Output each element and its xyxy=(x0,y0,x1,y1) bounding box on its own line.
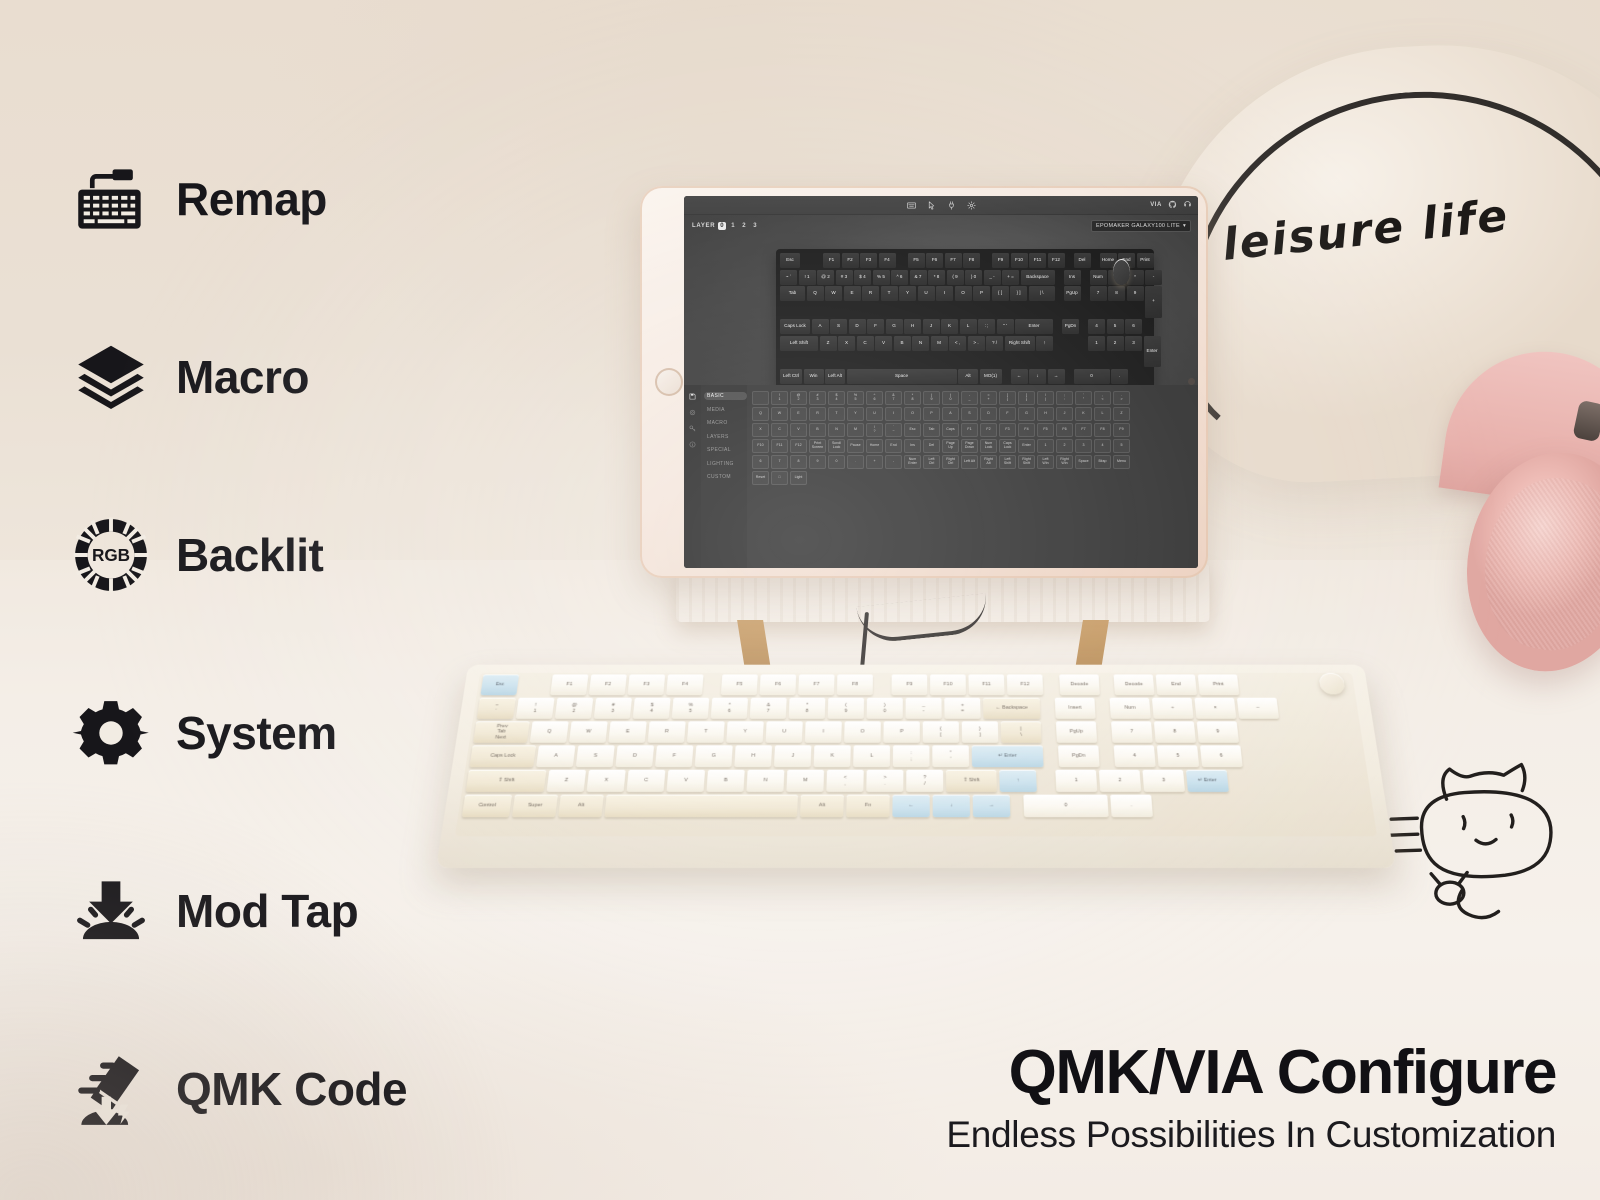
keyboard-key[interactable]: ÷ xyxy=(1152,698,1194,719)
via-tab-custom[interactable]: CUSTOM xyxy=(704,473,747,481)
via-keycode-key[interactable]: PrintScreen xyxy=(809,439,826,453)
via-keycode-key[interactable]: ,< xyxy=(1094,391,1111,405)
via-board-key[interactable]: < , xyxy=(949,336,966,351)
keyboard-key[interactable]: PgDn xyxy=(1058,745,1100,767)
via-board-key[interactable]: # 3 xyxy=(836,270,853,285)
via-board-key[interactable]: _ - xyxy=(984,270,1001,285)
via-keycode-key[interactable]: [{ xyxy=(999,391,1016,405)
via-keycode-key[interactable]: /? xyxy=(866,423,883,437)
via-board-key[interactable]: + xyxy=(1145,286,1162,318)
keyboard-key[interactable]: C xyxy=(626,770,665,792)
via-board-key[interactable]: P xyxy=(973,286,990,301)
via-board-key[interactable]: % 5 xyxy=(873,270,890,285)
via-board-key[interactable]: 7 xyxy=(1090,286,1107,301)
via-board-key[interactable]: - xyxy=(1145,270,1162,285)
keyboard-key[interactable]: → xyxy=(973,795,1011,818)
via-board-key[interactable]: 5 xyxy=(1107,319,1124,334)
via-board-key[interactable]: ~ ` xyxy=(780,270,797,285)
keyboard-key[interactable]: += xyxy=(944,698,980,719)
via-keycode-key[interactable]: L xyxy=(1094,407,1111,421)
keyboard-key[interactable]: #3 xyxy=(594,698,632,719)
keyboard-key[interactable]: F4 xyxy=(666,675,703,696)
via-keycode-key[interactable]: RightCtrl xyxy=(942,455,959,469)
via-keycode-key[interactable]: F8 xyxy=(1094,423,1111,437)
layer-selector[interactable]: LAYER 0 1 2 3 xyxy=(692,222,759,230)
keyboard-key[interactable]: F8 xyxy=(837,675,873,696)
via-keycode-key[interactable]: #3 xyxy=(809,391,826,405)
via-keycode-key[interactable]: - xyxy=(885,455,902,469)
key-icon[interactable] xyxy=(689,425,696,432)
via-keycode-key[interactable]: End xyxy=(885,439,902,453)
via-board-key[interactable]: ) 0 xyxy=(965,270,982,285)
keyboard-key[interactable]: _- xyxy=(906,698,942,719)
via-keycode-key[interactable]: F5 xyxy=(1037,423,1054,437)
via-board-key[interactable]: Left Shift xyxy=(780,336,818,351)
keyboard-key[interactable]: F3 xyxy=(627,675,665,696)
keyboard-key[interactable]: F7 xyxy=(798,675,834,696)
keyboard-key[interactable]: End xyxy=(1156,675,1197,696)
via-keycode-key[interactable]: G xyxy=(1018,407,1035,421)
keyboard-key[interactable]: F2 xyxy=(589,675,627,696)
keyboard-key[interactable]: Super xyxy=(512,795,558,818)
via-keycode-key[interactable]: F3 xyxy=(999,423,1016,437)
via-board-key[interactable]: F2 xyxy=(842,253,859,268)
via-keycode-key[interactable]: Caps xyxy=(942,423,959,437)
keyboard-key[interactable]: "' xyxy=(932,745,969,767)
via-keycode-key[interactable]: S xyxy=(961,407,978,421)
via-keycode-key[interactable]: I xyxy=(885,407,902,421)
keyboard-icon[interactable] xyxy=(907,201,916,210)
gear-icon[interactable] xyxy=(967,201,976,210)
via-keycode-key[interactable]: F xyxy=(999,407,1016,421)
via-board-key[interactable]: F9 xyxy=(992,253,1009,268)
keyboard-key[interactable]: M xyxy=(786,770,824,792)
via-board-key[interactable]: ← xyxy=(1011,369,1028,384)
via-keycode-key[interactable]: F6 xyxy=(1056,423,1073,437)
keyboard-key[interactable]: F xyxy=(655,745,693,767)
via-board-key[interactable]: Win xyxy=(804,369,824,384)
via-keycode-key[interactable]: 7 xyxy=(771,455,788,469)
keyboard-key[interactable]: |\ xyxy=(1001,721,1042,742)
via-board-key[interactable]: G xyxy=(886,319,903,334)
keyboard-key[interactable]: Print xyxy=(1198,675,1240,696)
via-keycode-key[interactable]: H xyxy=(1037,407,1054,421)
via-keycode-panel[interactable]: BASICMEDIAMACROLAYERSSPECIALLIGHTINGCUST… xyxy=(684,385,1198,568)
via-keycode-key[interactable]: LeftShift xyxy=(999,455,1016,469)
keyboard-key[interactable]: F9 xyxy=(891,675,927,696)
via-keycode-key[interactable]: J xyxy=(1056,407,1073,421)
via-tab-lighting[interactable]: LIGHTING xyxy=(704,460,747,468)
via-board-key[interactable]: F1 xyxy=(823,253,840,268)
via-keycode-key[interactable]: X xyxy=(752,423,769,437)
via-keycode-key[interactable]: .> xyxy=(1113,391,1130,405)
via-board-key[interactable] xyxy=(1113,259,1130,285)
layer-chip-2[interactable]: 2 xyxy=(740,222,748,230)
via-keycode-key[interactable]: F11 xyxy=(771,439,788,453)
keyboard-key[interactable]: E xyxy=(608,721,646,742)
keyboard-key[interactable]: H xyxy=(734,745,772,767)
via-keycode-key[interactable]: 4 xyxy=(1094,439,1111,453)
keyboard-key[interactable]: F6 xyxy=(759,675,796,696)
keyboard-key[interactable]: P xyxy=(883,721,919,742)
via-board-key[interactable]: Esc xyxy=(780,253,800,268)
keyboard-key[interactable]: 1 xyxy=(1055,770,1097,792)
keyboard-key[interactable]: 6 xyxy=(1200,745,1243,767)
keyboard-key[interactable]: ?/ xyxy=(906,770,943,792)
via-board-key[interactable]: Q xyxy=(807,286,824,301)
keyboard-key[interactable]: N xyxy=(746,770,784,792)
via-board-key[interactable]: E xyxy=(844,286,861,301)
via-board-key[interactable]: F3 xyxy=(860,253,877,268)
keyboard-key[interactable]: %5 xyxy=(672,698,710,719)
via-board-key[interactable]: V xyxy=(875,336,892,351)
via-keycode-key[interactable]: -_ xyxy=(961,391,978,405)
via-keycode-key[interactable]: ScrollLock xyxy=(828,439,845,453)
keyboard-key[interactable]: . xyxy=(1110,795,1153,818)
keyboard-key[interactable]: Insert xyxy=(1055,698,1096,719)
via-keycode-key[interactable]: M xyxy=(847,423,864,437)
via-keycode-key[interactable]: %5 xyxy=(847,391,864,405)
keyboard-key[interactable]: ⇧ Shift xyxy=(946,770,997,792)
via-keycode-key[interactable]: F2 xyxy=(980,423,997,437)
keyboard-key[interactable]: Decode xyxy=(1059,675,1100,696)
via-keycode-key[interactable]: ;: xyxy=(1056,391,1073,405)
keyboard-key[interactable]: 9 xyxy=(1197,721,1239,742)
via-board-key[interactable]: W xyxy=(825,286,842,301)
via-keycode-key[interactable]: F12 xyxy=(790,439,807,453)
via-board-key[interactable]: A xyxy=(812,319,829,334)
keyboard-key[interactable]: &7 xyxy=(750,698,787,719)
via-board-key[interactable]: Right Shift xyxy=(1005,336,1035,351)
keyboard-key[interactable]: Q xyxy=(530,721,569,742)
keyboard-key[interactable]: @2 xyxy=(555,698,594,719)
via-board-key[interactable]: 4 xyxy=(1088,319,1105,334)
via-keycode-key[interactable]: C xyxy=(771,423,788,437)
via-board-key[interactable]: → xyxy=(1048,369,1065,384)
keyboard-key[interactable]: 0 xyxy=(1023,795,1108,818)
via-board-key[interactable]: F11 xyxy=(1029,253,1046,268)
keyboard-key[interactable]: 5 xyxy=(1157,745,1199,767)
via-board-key[interactable]: Caps Lock xyxy=(780,319,810,334)
via-board-key[interactable]: | \ xyxy=(1029,286,1055,301)
save-icon[interactable] xyxy=(689,393,696,400)
via-keycode-key[interactable]: E xyxy=(790,407,807,421)
via-board-key[interactable]: + = xyxy=(1002,270,1019,285)
via-keymap-area[interactable]: LAYER 0 1 2 3 EPOMAKER GALAXY100 LITE ▾ … xyxy=(684,215,1198,385)
via-keycode-key[interactable]: Y xyxy=(847,407,864,421)
via-toolbar[interactable]: VIA xyxy=(684,196,1198,215)
via-keycode-key[interactable]: Home xyxy=(866,439,883,453)
via-board-key[interactable]: Tab xyxy=(780,286,805,301)
via-board-key[interactable]: * 8 xyxy=(928,270,945,285)
via-keycode-key[interactable]: RightAlt xyxy=(980,455,997,469)
via-board-key[interactable]: D xyxy=(849,319,866,334)
via-keycode-key[interactable]: □ xyxy=(771,471,788,485)
via-category-tabs[interactable]: BASICMEDIAMACROLAYERSSPECIALLIGHTINGCUST… xyxy=(701,385,747,568)
via-keycode-key[interactable]: 2 xyxy=(1056,439,1073,453)
keyboard-key[interactable]: F5 xyxy=(721,675,758,696)
via-keycode-key[interactable]: O xyxy=(904,407,921,421)
via-keycode-key[interactable]: A xyxy=(942,407,959,421)
keyboard-key[interactable]: Z xyxy=(547,770,587,792)
keyboard-key[interactable]: J xyxy=(774,745,812,767)
plug-icon[interactable] xyxy=(947,201,956,210)
keyboard-key[interactable]: L xyxy=(853,745,890,767)
via-keycode-key[interactable]: Z xyxy=(1113,407,1130,421)
via-board-key[interactable]: : ; xyxy=(978,319,995,334)
via-keycode-key[interactable]: )0 xyxy=(942,391,959,405)
keyboard-key[interactable]: O xyxy=(844,721,881,742)
via-board-key[interactable]: Ins xyxy=(1064,270,1081,285)
via-keycode-key[interactable]: W xyxy=(771,407,788,421)
keyboard-key-grid[interactable]: EscF1F2F3F4F5F6F7F8F9F10F11F12DecodeDeco… xyxy=(462,675,1370,818)
via-board-key[interactable]: S xyxy=(830,319,847,334)
tablet-home-button[interactable] xyxy=(655,368,683,396)
via-keyboard-render[interactable]: EscF1F2F3F4F5F6F7F8F9F10F11F12DelHomeEnd… xyxy=(776,249,1154,389)
via-keycode-key[interactable]: U xyxy=(866,407,883,421)
via-keycode-key[interactable]: RightWin xyxy=(1056,455,1073,469)
via-board-key[interactable]: H xyxy=(904,319,921,334)
keyboard-key[interactable]: A xyxy=(536,745,575,767)
via-board-key[interactable]: Backspace xyxy=(1021,270,1055,285)
via-board-key[interactable]: J xyxy=(923,319,940,334)
keyboard-key[interactable]: × xyxy=(1194,698,1236,719)
keyboard-key[interactable]: 2 xyxy=(1099,770,1141,792)
via-keycode-key[interactable]: V xyxy=(790,423,807,437)
keyboard-key[interactable]: Y xyxy=(726,721,764,742)
keyboard-key[interactable]: $4 xyxy=(633,698,671,719)
via-board-key[interactable]: F10 xyxy=(1011,253,1028,268)
layer-chip-0[interactable]: 0 xyxy=(718,222,726,230)
via-keycode-key[interactable]: 5 xyxy=(1113,439,1130,453)
keyboard-key[interactable]: W xyxy=(569,721,608,742)
via-keycode-key[interactable]: R xyxy=(809,407,826,421)
via-board-key[interactable]: C xyxy=(857,336,874,351)
via-keycode-key[interactable]: LeftCtrl xyxy=(923,455,940,469)
via-board-key[interactable]: ! 1 xyxy=(799,270,816,285)
via-keycode-key[interactable]: F10 xyxy=(752,439,769,453)
via-keycode-key[interactable]: T xyxy=(828,407,845,421)
via-board-key[interactable]: T xyxy=(881,286,898,301)
via-board-key[interactable]: ^ 6 xyxy=(891,270,908,285)
via-board-key[interactable]: . xyxy=(1111,369,1128,384)
keyboard-key[interactable]: :; xyxy=(893,745,930,767)
keyboard-key[interactable]: 8 xyxy=(1154,721,1196,742)
via-board-key[interactable]: 8 xyxy=(1108,286,1125,301)
layer-chip-3[interactable]: 3 xyxy=(751,222,759,230)
via-keycode-key[interactable] xyxy=(752,391,769,405)
via-keycode-key[interactable]: Left Alt xyxy=(961,455,978,469)
via-keycode-key[interactable]: '" xyxy=(1075,391,1092,405)
via-board-key[interactable]: Left Alt xyxy=(825,369,845,384)
via-keycode-key[interactable]: LeftWin xyxy=(1037,455,1054,469)
via-keycode-key[interactable]: =+ xyxy=(980,391,997,405)
via-board-key[interactable]: O xyxy=(955,286,972,301)
via-keycode-key[interactable]: F4 xyxy=(1018,423,1035,437)
via-keycode-key[interactable]: `~ xyxy=(885,423,902,437)
keyboard-key[interactable]: >. xyxy=(866,770,903,792)
via-keycode-key[interactable]: Del xyxy=(923,439,940,453)
via-keycode-grid[interactable]: !1@2#3$4%5^6&7*8(9)0-_=+[{]}\|;:'",<.>QW… xyxy=(747,385,1198,568)
via-board-key[interactable]: " ' xyxy=(997,319,1014,334)
via-keycode-key[interactable]: ^6 xyxy=(866,391,883,405)
via-side-rail[interactable] xyxy=(684,385,701,568)
keyboard-key[interactable]: 4 xyxy=(1114,745,1156,767)
via-keycode-key[interactable]: Pause xyxy=(847,439,864,453)
via-board-key[interactable]: PgUp xyxy=(1064,286,1081,301)
keyboard-key[interactable]: ↑ xyxy=(999,770,1037,792)
via-board-key[interactable]: > . xyxy=(968,336,985,351)
keyboard-key[interactable] xyxy=(604,795,798,818)
via-keycode-key[interactable]: F7 xyxy=(1075,423,1092,437)
via-board-key[interactable]: 2 xyxy=(1107,336,1124,351)
via-tab-macro[interactable]: MACRO xyxy=(704,419,747,427)
keyboard-key[interactable]: Decode xyxy=(1113,675,1154,696)
keyboard-key[interactable]: 7 xyxy=(1111,721,1153,742)
via-board-key[interactable]: @ 2 xyxy=(817,270,834,285)
via-keycode-key[interactable]: Reset xyxy=(752,471,769,485)
via-board-key[interactable]: 6 xyxy=(1125,319,1142,334)
via-board-key[interactable]: Alt xyxy=(958,369,978,384)
via-keycode-key[interactable]: Esc xyxy=(904,423,921,437)
via-tab-layers[interactable]: LAYERS xyxy=(704,433,747,441)
via-keycode-key[interactable]: !1 xyxy=(771,391,788,405)
keyboard-key[interactable]: Alt xyxy=(558,795,604,818)
via-keycode-key[interactable]: *8 xyxy=(904,391,921,405)
via-keycode-key[interactable]: K xyxy=(1075,407,1092,421)
physical-keyboard[interactable]: EscF1F2F3F4F5F6F7F8F9F10F11F12DecodeDeco… xyxy=(436,665,1396,868)
via-board-key[interactable]: 1 xyxy=(1088,336,1105,351)
via-keycode-key[interactable]: 6 xyxy=(752,455,769,469)
via-keycode-key[interactable]: $4 xyxy=(828,391,845,405)
via-keycode-key[interactable]: CapsLock xyxy=(999,439,1016,453)
via-board-key[interactable]: ↓ xyxy=(1029,369,1046,384)
via-toolbar-right[interactable]: VIA xyxy=(1150,200,1192,209)
via-board-key[interactable]: { [ xyxy=(992,286,1009,301)
via-keycode-key[interactable]: 0 xyxy=(828,455,845,469)
via-board-key[interactable]: 9 xyxy=(1127,286,1144,301)
via-keycode-key[interactable]: 1 xyxy=(1037,439,1054,453)
via-board-key[interactable]: F5 xyxy=(908,253,925,268)
github-icon[interactable] xyxy=(1168,200,1177,209)
headset-icon[interactable] xyxy=(1183,200,1192,209)
keyboard-key[interactable]: ↵ Enter xyxy=(972,745,1044,767)
via-keycode-key[interactable]: Light xyxy=(790,471,807,485)
keyboard-key[interactable]: K xyxy=(814,745,851,767)
via-app-screen[interactable]: VIA LAYER 0 1 2 3 EPOMAKER GALAXY100 L xyxy=(684,196,1198,568)
via-board-key[interactable]: Num xyxy=(1090,270,1107,285)
via-board-key[interactable]: F8 xyxy=(963,253,980,268)
via-board-key[interactable]: 3 xyxy=(1125,336,1142,351)
settings-icon[interactable] xyxy=(689,409,696,416)
via-board-key[interactable]: Enter xyxy=(1015,319,1053,334)
via-keycode-key[interactable]: PageDown xyxy=(961,439,978,453)
via-keycode-key[interactable]: Ins xyxy=(904,439,921,453)
via-tab-media[interactable]: MEDIA xyxy=(704,406,747,414)
via-board-key[interactable]: R xyxy=(862,286,879,301)
via-keycode-key[interactable]: Space xyxy=(1075,455,1092,469)
keyboard-key[interactable]: Fn xyxy=(846,795,889,818)
via-keycode-key[interactable]: D xyxy=(980,407,997,421)
via-board-key[interactable]: F12 xyxy=(1048,253,1065,268)
keyboard-key[interactable]: – xyxy=(1237,698,1279,719)
via-board-key[interactable]: $ 4 xyxy=(854,270,871,285)
keyboard-key[interactable]: ← Backspace xyxy=(983,698,1041,719)
keyboard-key[interactable]: ^6 xyxy=(711,698,748,719)
keyboard-key[interactable]: 3 xyxy=(1142,770,1185,792)
via-keycode-key[interactable]: 8 xyxy=(790,455,807,469)
via-keycode-key[interactable]: PageUp xyxy=(942,439,959,453)
via-keycode-key[interactable]: RightShift xyxy=(1018,455,1035,469)
via-keycode-key[interactable]: Bksp xyxy=(1094,455,1111,469)
via-board-key[interactable]: Z xyxy=(820,336,837,351)
keyboard-key[interactable]: R xyxy=(648,721,686,742)
via-keycode-key[interactable]: Menu xyxy=(1113,455,1130,469)
info-icon[interactable] xyxy=(689,441,696,448)
via-keycode-key[interactable]: Tab xyxy=(923,423,940,437)
layer-chip-1[interactable]: 1 xyxy=(729,222,737,230)
keyboard-key[interactable]: G xyxy=(695,745,733,767)
keyboard-key[interactable]: T xyxy=(687,721,725,742)
keyboard-key[interactable]: Num xyxy=(1109,698,1150,719)
via-keycode-key[interactable]: @2 xyxy=(790,391,807,405)
via-keycode-key[interactable]: (9 xyxy=(923,391,940,405)
keyboard-key[interactable]: B xyxy=(706,770,744,792)
via-board-key[interactable]: F4 xyxy=(879,253,896,268)
via-keycode-key[interactable]: F9 xyxy=(1113,423,1130,437)
via-board-key[interactable]: Del xyxy=(1074,253,1091,268)
via-keycode-key[interactable]: &7 xyxy=(885,391,902,405)
device-dropdown[interactable]: EPOMAKER GALAXY100 LITE ▾ xyxy=(1091,220,1191,232)
via-board-key[interactable]: PgDn xyxy=(1062,319,1079,334)
via-board-key[interactable]: Enter xyxy=(1144,336,1161,368)
via-board-key[interactable]: 0 xyxy=(1074,369,1110,384)
via-board-key[interactable]: F xyxy=(867,319,884,334)
via-keycode-key[interactable]: 9 xyxy=(809,455,826,469)
keyboard-key[interactable]: ↵ Enter xyxy=(1186,770,1229,792)
keyboard-key[interactable]: F1 xyxy=(550,675,588,696)
pointer-icon[interactable] xyxy=(927,201,936,210)
keyboard-key[interactable]: )0 xyxy=(867,698,903,719)
via-keycode-key[interactable]: 3 xyxy=(1075,439,1092,453)
keyboard-key[interactable]: ← xyxy=(892,795,929,818)
via-board-key[interactable]: B xyxy=(894,336,911,351)
via-board-key[interactable]: K xyxy=(941,319,958,334)
keyboard-key[interactable]: <, xyxy=(826,770,863,792)
keyboard-key[interactable]: ↓ xyxy=(933,795,970,818)
via-board-key[interactable]: N xyxy=(912,336,929,351)
via-board-key[interactable]: M xyxy=(931,336,948,351)
via-board-key[interactable]: ( 9 xyxy=(947,270,964,285)
keyboard-key[interactable]: X xyxy=(587,770,626,792)
keyboard-key[interactable]: }] xyxy=(962,721,999,742)
via-board-key[interactable]: X xyxy=(838,336,855,351)
via-board-key[interactable]: F7 xyxy=(945,253,962,268)
via-board-key[interactable]: Print xyxy=(1137,253,1154,268)
via-keycode-key[interactable]: F1 xyxy=(961,423,978,437)
keyboard-key[interactable]: F10 xyxy=(930,675,966,696)
via-keycode-key[interactable]: B xyxy=(809,423,826,437)
keyboard-key[interactable]: Alt xyxy=(800,795,844,818)
via-board-key[interactable]: F6 xyxy=(926,253,943,268)
via-keycode-key[interactable]: Q xyxy=(752,407,769,421)
keyboard-key[interactable]: D xyxy=(615,745,654,767)
via-tab-basic[interactable]: BASIC xyxy=(704,392,747,400)
keyboard-key[interactable]: F12 xyxy=(1007,675,1043,696)
via-board-key[interactable]: Left Ctrl xyxy=(780,369,802,384)
keyboard-key[interactable]: V xyxy=(666,770,705,792)
via-board-key[interactable]: Y xyxy=(899,286,916,301)
